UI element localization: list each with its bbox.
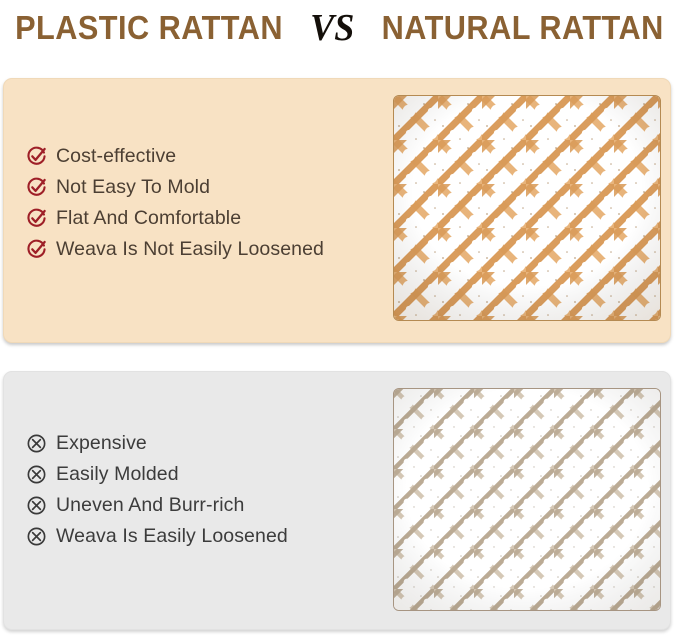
- list-item-label: Uneven And Burr-rich: [56, 496, 244, 516]
- list-item-label: Flat And Comfortable: [56, 209, 241, 229]
- list-item-label: Easily Molded: [56, 465, 179, 485]
- list-item-label: Cost-effective: [56, 147, 176, 167]
- plastic-rattan-weave-photo: [393, 95, 661, 321]
- list-item: Flat And Comfortable: [26, 203, 324, 234]
- check-circle-icon: [26, 177, 47, 198]
- list-item-label: Expensive: [56, 434, 147, 454]
- feature-list-natural: Expensive Easily Molded Uneven And Burr-…: [26, 428, 288, 552]
- x-circle-icon: [26, 526, 47, 547]
- feature-list-plastic: Cost-effective Not Easy To Mold Flat And…: [26, 141, 324, 265]
- list-item: Uneven And Burr-rich: [26, 490, 288, 521]
- list-item-label: Weava Is Not Easily Loosened: [56, 240, 324, 260]
- comparison-header: PLASTIC RATTAN VS NATURAL RATTAN: [0, 0, 679, 56]
- panel-natural-rattan: Expensive Easily Molded Uneven And Burr-…: [3, 371, 671, 630]
- check-circle-icon: [26, 239, 47, 260]
- check-circle-icon: [26, 146, 47, 167]
- x-circle-icon: [26, 433, 47, 454]
- list-item: Not Easy To Mold: [26, 172, 324, 203]
- list-item-label: Weava Is Easily Loosened: [56, 527, 288, 547]
- natural-rattan-weave-photo: [393, 388, 661, 611]
- x-circle-icon: [26, 495, 47, 516]
- list-item: Weava Is Easily Loosened: [26, 521, 288, 552]
- list-item: Weava Is Not Easily Loosened: [26, 234, 324, 265]
- list-item: Easily Molded: [26, 459, 288, 490]
- list-item-label: Not Easy To Mold: [56, 178, 210, 198]
- panel-plastic-rattan: Cost-effective Not Easy To Mold Flat And…: [3, 78, 671, 343]
- header-title-left: PLASTIC RATTAN: [15, 9, 283, 47]
- header-title-right: NATURAL RATTAN: [382, 9, 664, 47]
- header-versus-label: VS: [308, 6, 356, 50]
- list-item: Cost-effective: [26, 141, 324, 172]
- list-item: Expensive: [26, 428, 288, 459]
- check-circle-icon: [26, 208, 47, 229]
- x-circle-icon: [26, 464, 47, 485]
